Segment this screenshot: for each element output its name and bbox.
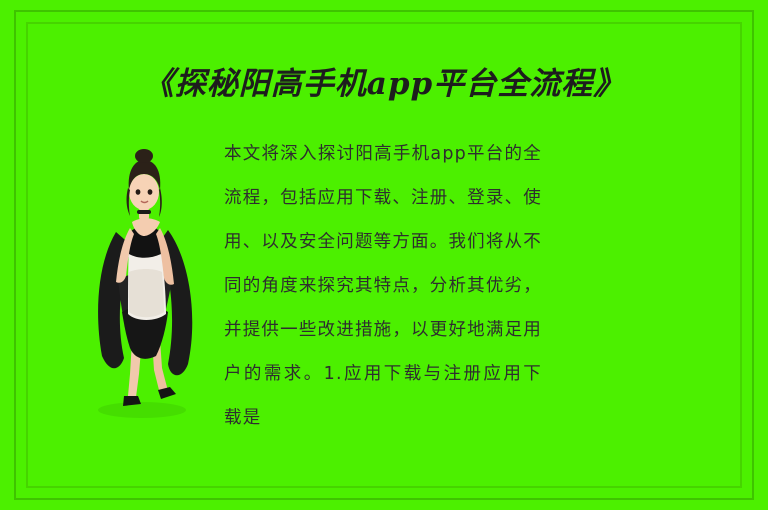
page-title: 《探秘阳高手机app平台全流程》	[0, 58, 768, 103]
poster-canvas: 《探秘阳高手机app平台全流程》	[0, 0, 768, 510]
illustration-woman	[72, 112, 216, 422]
body-paragraph: 本文将深入探讨阳高手机app平台的全流程，包括应用下载、注册、登录、使用、以及安…	[224, 132, 542, 440]
